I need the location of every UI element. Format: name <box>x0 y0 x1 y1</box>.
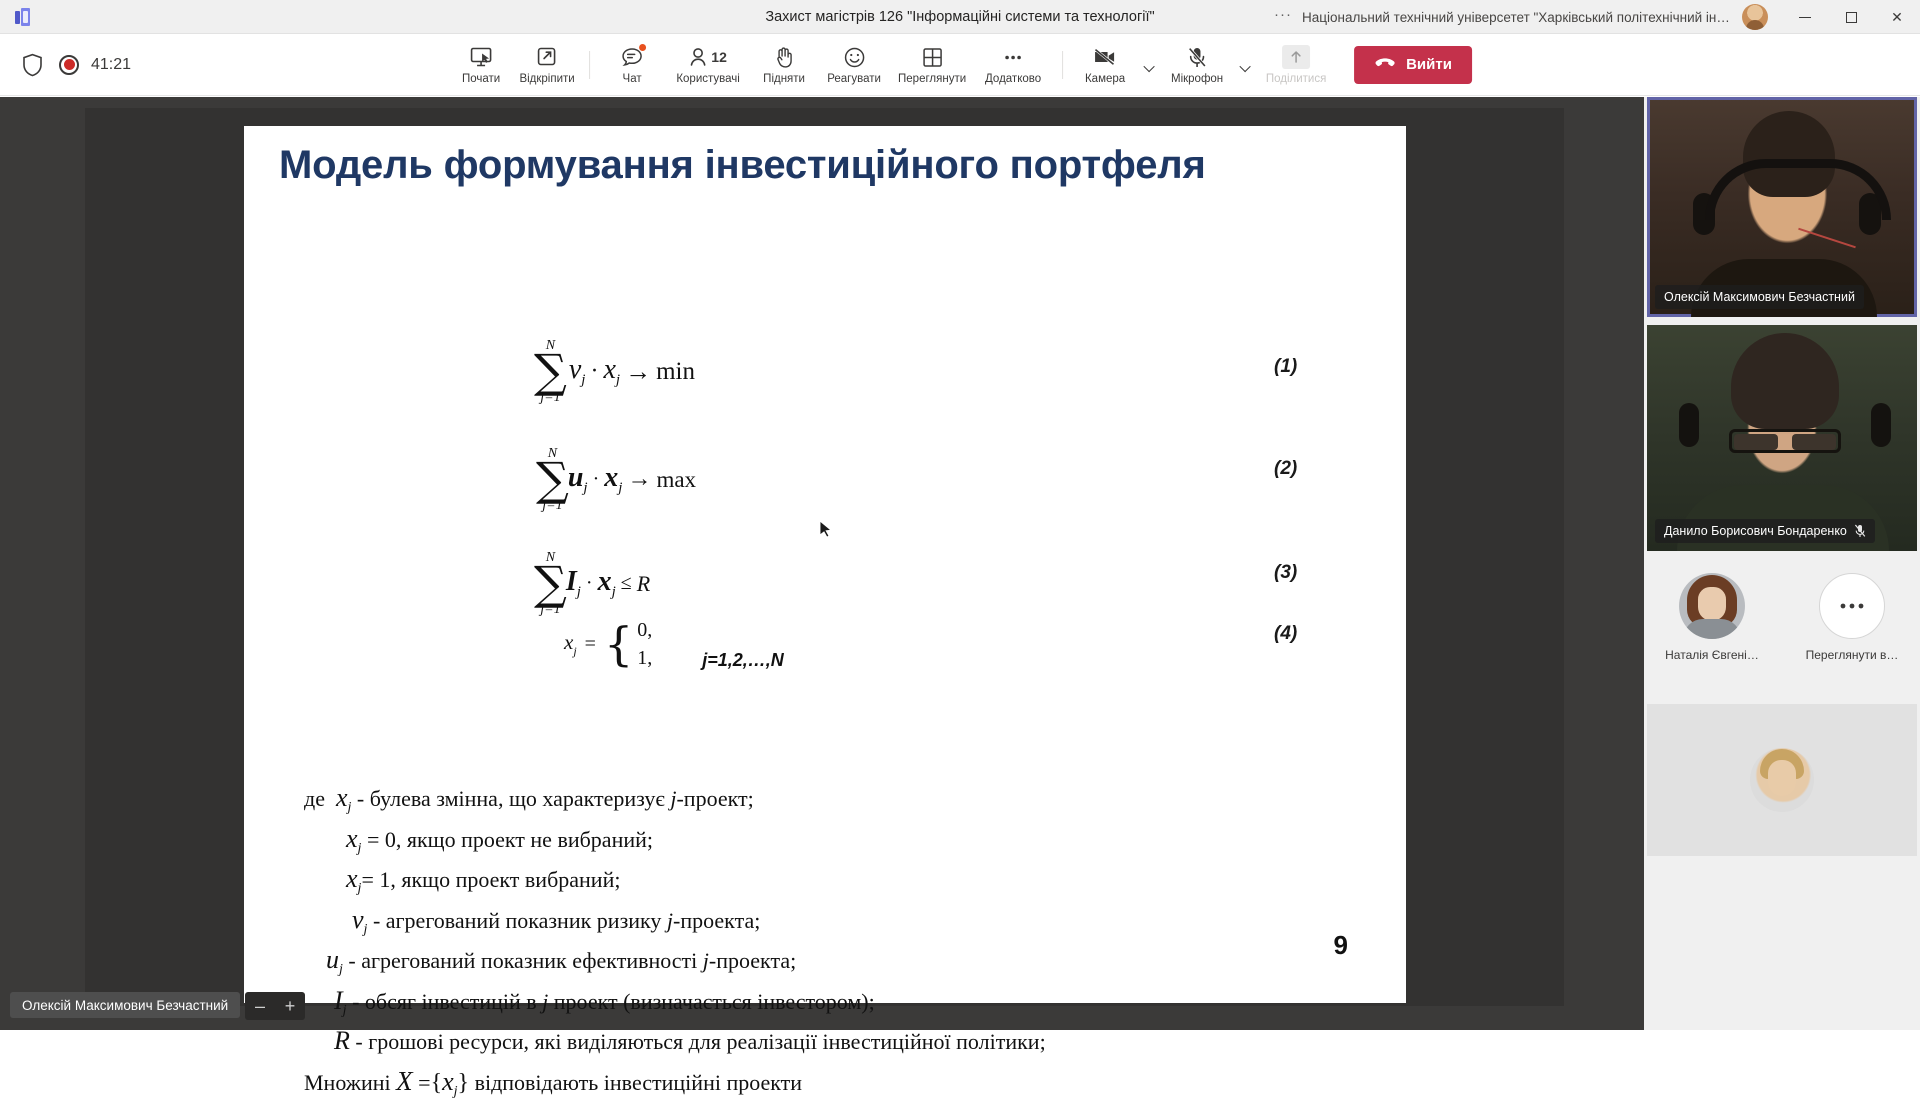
mouse-cursor-icon <box>819 520 833 540</box>
organization-label: Національний технічний універсетет "Харк… <box>1302 10 1732 25</box>
share-tray-button[interactable]: Поділитися <box>1256 36 1336 94</box>
equation-number-2: (2) <box>1274 458 1297 480</box>
chevron-down-icon <box>1143 60 1154 71</box>
roster-audio-tile[interactable] <box>1647 704 1917 856</box>
definition-line-5: Ij - обсяг інвестицій в j проект (визнач… <box>304 981 1394 1022</box>
view-button[interactable]: Переглянути <box>891 36 973 94</box>
sum-lower-2: j=1 <box>542 499 562 513</box>
window-overflow-icon[interactable]: ··· <box>1264 7 1302 22</box>
video-tile-name-1: Данило Борисович Бондаренко <box>1655 519 1875 543</box>
chat-icon <box>620 45 644 70</box>
definition-line-4: uj - агрегований показник ефективності j… <box>304 940 1394 981</box>
participant-count: 12 <box>711 49 727 65</box>
avatar <box>1679 573 1745 639</box>
video-tile-name-0: Олексій Максимович Безчастний <box>1655 285 1864 309</box>
equation-4: xj = { 0, 1, j=1,2,…,N <box>564 616 784 673</box>
participants-roster: Олексій Максимович Безчастний Данило Бор… <box>1644 97 1920 1030</box>
shield-icon <box>22 53 43 77</box>
video-tile-1[interactable]: Данило Борисович Бондаренко <box>1647 325 1917 551</box>
microphone-off-icon <box>1186 45 1208 70</box>
popout-button[interactable]: Відкріпити <box>514 36 580 94</box>
meeting-toolbar: 41:21 Почати Відкріпити Чат <box>0 34 1920 96</box>
leave-call-button[interactable]: Вийти <box>1354 46 1472 84</box>
recording-indicator: 41:21 <box>59 55 131 75</box>
roster-view-more[interactable]: Переглянути в… <box>1800 573 1904 662</box>
raise-hand-label: Підняти <box>763 73 805 85</box>
camera-label: Камера <box>1085 73 1125 85</box>
definition-line-3: vj - агрегований показник ризику j-проек… <box>304 900 1394 941</box>
popout-label: Відкріпити <box>519 73 574 85</box>
definition-line-6: R - грошові ресурси, які виділяються для… <box>304 1021 1394 1061</box>
equation-2: N ∑ j=1 uj · xj → max <box>536 444 696 513</box>
roster-participant-0[interactable]: Наталія Євгені… <box>1660 573 1764 662</box>
reactions-label: Реагувати <box>827 73 881 85</box>
maximize-button[interactable] <box>1828 0 1874 34</box>
hangup-icon <box>1374 56 1396 74</box>
share-screen-label: Почати <box>462 73 500 85</box>
case-range: j=1,2,…,N <box>702 650 784 673</box>
leave-call-label: Вийти <box>1406 56 1452 73</box>
more-actions-button[interactable]: Додатково <box>973 36 1053 94</box>
zoom-controls[interactable]: – + <box>245 992 305 1020</box>
present-screen-icon <box>469 45 493 70</box>
chat-unread-badge <box>638 43 647 52</box>
share-screen-button[interactable]: Почати <box>448 36 514 94</box>
roster-participant-label-0: Наталія Євгені… <box>1665 648 1759 662</box>
equation-number-4: (4) <box>1274 623 1297 645</box>
chat-button[interactable]: Чат <box>599 36 665 94</box>
camera-off-icon <box>1092 45 1118 70</box>
definition-line-0: де xj - булева змінна, що характеризує j… <box>304 778 1394 819</box>
definition-line-1: xj = 0, якщо проект не вибраний; <box>304 819 1394 860</box>
equation-1: N ∑ j=1 vj · xj → min <box>534 336 695 405</box>
equation-number-1: (1) <box>1274 356 1297 378</box>
record-icon <box>59 55 79 75</box>
view-grid-icon <box>921 45 944 70</box>
microphone-off-icon <box>1854 524 1866 538</box>
emoji-reaction-icon <box>843 45 866 70</box>
sum-lower-1: j=1 <box>540 391 560 405</box>
presentation-slide: Модель формування інвестиційного портфел… <box>244 126 1406 1003</box>
presenter-name-badge: Олексій Максимович Безчастний <box>10 992 240 1018</box>
sigma-icon: ∑ <box>536 461 569 499</box>
microphone-options-button[interactable] <box>1234 44 1256 86</box>
definition-line-2: xj= 1, якщо проект вибраний; <box>304 859 1394 900</box>
share-tray-icon <box>1282 45 1310 70</box>
microphone-label: Мікрофон <box>1171 73 1223 85</box>
participants-button[interactable]: 12 Користувачі <box>665 36 751 94</box>
sum-lower-3: j=1 <box>540 603 560 617</box>
participants-label: Користувачі <box>676 73 739 85</box>
more-horizontal-icon <box>1819 573 1885 639</box>
equation-3: N ∑ j=1 Ij · xj ≤ R <box>534 548 650 617</box>
meeting-stage: Модель формування інвестиційного портфел… <box>0 97 1644 1030</box>
participant-name: Олексій Максимович Безчастний <box>1664 290 1855 304</box>
more-actions-label: Додатково <box>985 73 1041 85</box>
chevron-down-icon <box>1239 60 1250 71</box>
share-tray-label: Поділитися <box>1266 73 1326 85</box>
reactions-button[interactable]: Реагувати <box>817 36 891 94</box>
avatar[interactable] <box>1742 4 1768 30</box>
close-button[interactable]: ✕ <box>1874 0 1920 34</box>
camera-button[interactable]: Камера <box>1072 36 1138 94</box>
avatar <box>1750 748 1814 812</box>
minimize-button[interactable] <box>1782 0 1828 34</box>
teams-logo-icon <box>12 6 34 28</box>
toolbar-divider-2 <box>1062 51 1063 79</box>
camera-options-button[interactable] <box>1138 44 1160 86</box>
raise-hand-icon <box>774 45 795 70</box>
case-value-0: 0, <box>637 616 652 644</box>
view-label: Переглянути <box>898 73 966 85</box>
participant-name: Данило Борисович Бондаренко <box>1664 524 1847 538</box>
roster-view-more-label: Переглянути в… <box>1806 648 1899 662</box>
video-tile-0[interactable]: Олексій Максимович Безчастний <box>1647 97 1917 317</box>
page-title: Модель формування інвестиційного портфел… <box>279 143 1389 188</box>
sigma-icon: ∑ <box>534 353 567 391</box>
sigma-icon: ∑ <box>534 565 567 603</box>
window-title-bar: Захист магістрів 126 "Інформаційні систе… <box>0 0 1920 34</box>
people-icon: 12 <box>689 45 727 70</box>
microphone-button[interactable]: Мікрофон <box>1160 36 1234 94</box>
unpin-popout-icon <box>536 45 559 70</box>
shared-content-area[interactable]: Модель формування інвестиційного портфел… <box>85 108 1564 1006</box>
more-horizontal-icon <box>1001 45 1025 70</box>
case-value-1: 1, <box>637 644 652 672</box>
equation-number-3: (3) <box>1274 562 1297 584</box>
minimize-icon <box>1799 17 1811 18</box>
zoom-out-button[interactable]: – <box>249 997 271 1015</box>
raise-hand-button[interactable]: Підняти <box>751 36 817 94</box>
definitions-list: де xj - булева змінна, що характеризує j… <box>304 778 1394 1103</box>
roster-avatar-row: Наталія Євгені… Переглянути в… <box>1644 567 1920 685</box>
zoom-in-button[interactable]: + <box>279 997 301 1015</box>
slide-page-number: 9 <box>1334 930 1348 961</box>
maximize-icon <box>1846 12 1857 23</box>
toolbar-divider <box>589 51 590 79</box>
meeting-timer: 41:21 <box>91 56 131 74</box>
definition-line-7: Множині X ={xj} відповідають інвестиційн… <box>304 1061 1394 1103</box>
chat-label: Чат <box>623 73 642 85</box>
